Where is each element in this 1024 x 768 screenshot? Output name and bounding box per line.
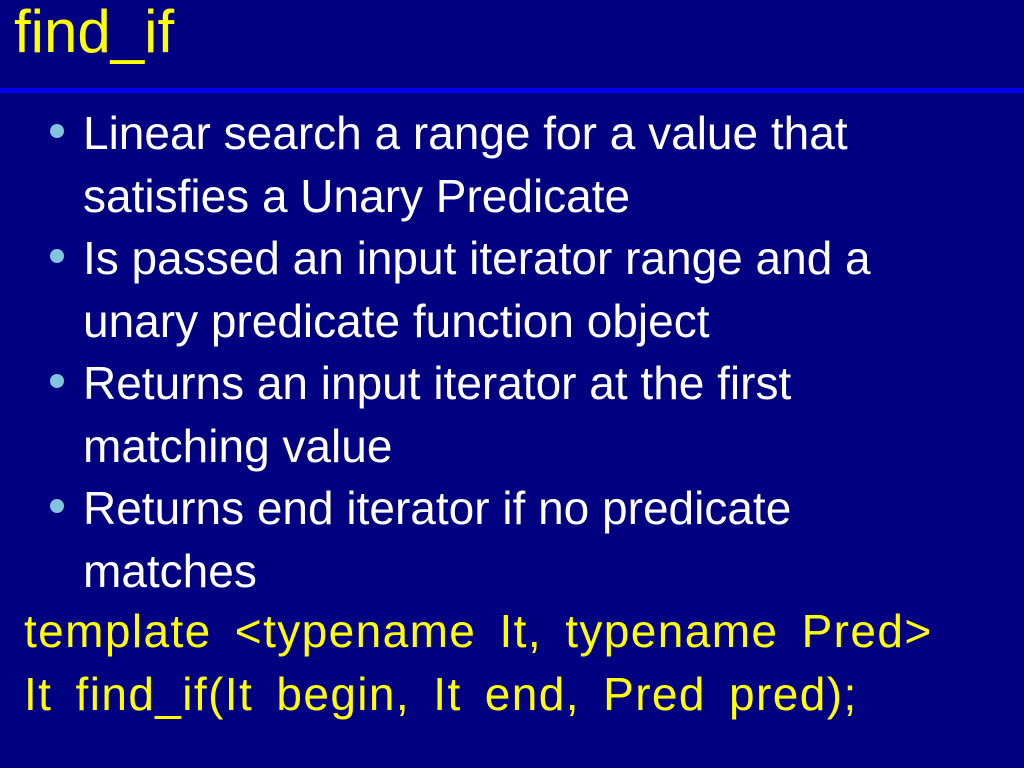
bullet-list: Linear search a range for a value that s… [0, 102, 1000, 602]
bullet-dot-icon [50, 124, 64, 138]
list-item: Returns an input iterator at the first m… [0, 352, 1000, 477]
slide-canvas: find_if Linear search a range for a valu… [0, 0, 1024, 768]
list-item-label: Linear search a range for a value that s… [83, 102, 1000, 227]
code-line-template-declaration: template <typename It, typename Pred> [24, 600, 1024, 663]
list-item: Returns end iterator if no predicate mat… [0, 477, 1000, 602]
bullet-dot-icon [50, 249, 64, 263]
bullet-dot-icon [50, 499, 64, 513]
list-item-label: Is passed an input iterator range and a … [83, 227, 1000, 352]
code-line-function-signature: It find_if(It begin, It end, Pred pred); [24, 663, 1024, 726]
list-item-label: Returns end iterator if no predicate mat… [83, 477, 1000, 602]
list-item: Linear search a range for a value that s… [0, 102, 1000, 227]
title-divider [0, 88, 1024, 93]
code-signature-block: template <typename It, typename Pred> It… [24, 600, 1024, 726]
list-item-label: Returns an input iterator at the first m… [83, 352, 1000, 477]
bullet-dot-icon [50, 374, 64, 388]
list-item: Is passed an input iterator range and a … [0, 227, 1000, 352]
page-title: find_if [14, 2, 174, 62]
